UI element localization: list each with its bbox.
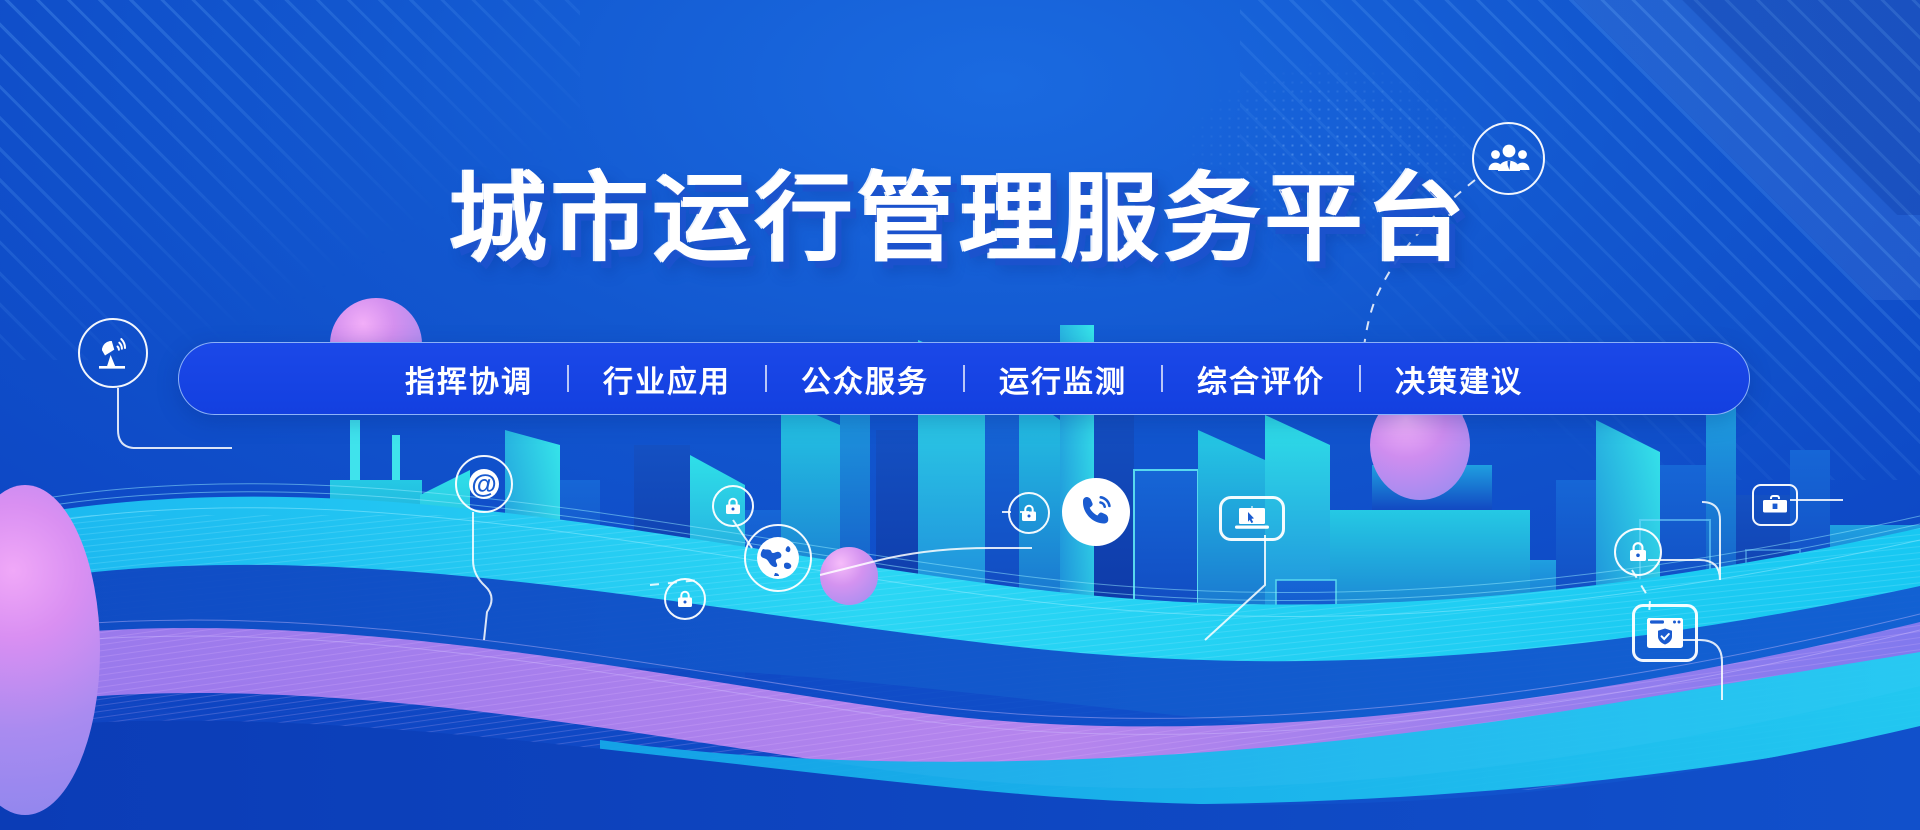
at-sign-icon[interactable]: @ (455, 455, 513, 513)
laptop-cursor-icon[interactable] (1219, 496, 1285, 541)
city-platform-banner: @ (0, 0, 1920, 830)
page-title: 城市运行管理服务平台 (0, 168, 1920, 271)
briefcase-icon[interactable] (1752, 484, 1798, 526)
nav-item-decision-suggestion[interactable]: 决策建议 (1361, 357, 1557, 401)
lock-icon[interactable] (712, 485, 754, 527)
nav-item-command-coordination[interactable]: 指挥协调 (371, 357, 567, 401)
nav-item-public-service[interactable]: 公众服务 (767, 357, 963, 401)
nav-item-industry-application[interactable]: 行业应用 (569, 357, 765, 401)
nav-item-operation-monitoring[interactable]: 运行监测 (965, 357, 1161, 401)
lock-icon[interactable] (1614, 528, 1662, 576)
nav-item-comprehensive-evaluation[interactable]: 综合评价 (1163, 357, 1359, 401)
globe-icon[interactable] (744, 524, 812, 592)
phone-signal-icon[interactable] (1062, 478, 1130, 546)
lock-icon[interactable] (1008, 492, 1050, 534)
browser-shield-icon[interactable] (1632, 604, 1698, 662)
nav-pill: 指挥协调 行业应用 公众服务 运行监测 综合评价 决策建议 (178, 342, 1750, 415)
svg-text:@: @ (471, 469, 496, 499)
decorative-sphere-small (820, 547, 878, 605)
lock-icon[interactable] (664, 578, 706, 620)
satellite-dish-icon[interactable] (78, 318, 148, 388)
